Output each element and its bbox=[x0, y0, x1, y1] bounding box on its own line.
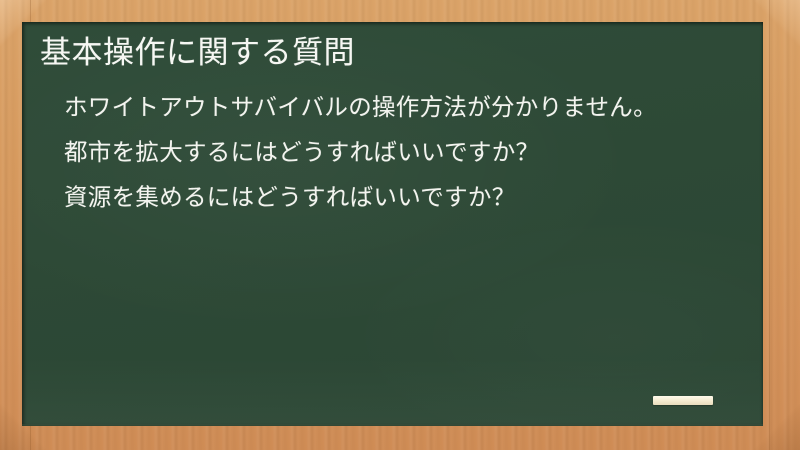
list-item: ホワイトアウトサバイバルの操作方法が分かりません。 bbox=[64, 91, 736, 124]
board-bottom-edge bbox=[22, 424, 763, 426]
question-list: ホワイトアウトサバイバルの操作方法が分かりません。 都市を拡大するにはどうすれば… bbox=[40, 91, 737, 214]
page-title: 基本操作に関する質問 bbox=[40, 34, 737, 73]
list-item: 資源を集めるにはどうすればいいですか？ bbox=[64, 181, 736, 214]
chalk-icon bbox=[653, 396, 713, 405]
blackboard-content: 基本操作に関する質問 ホワイトアウトサバイバルの操作方法が分かりません。 都市を… bbox=[22, 22, 763, 426]
chalkboard-slide: 基本操作に関する質問 ホワイトアウトサバイバルの操作方法が分かりません。 都市を… bbox=[0, 0, 800, 450]
list-item: 都市を拡大するにはどうすればいいですか？ bbox=[64, 136, 736, 169]
blackboard-surface: 基本操作に関する質問 ホワイトアウトサバイバルの操作方法が分かりません。 都市を… bbox=[22, 22, 763, 426]
